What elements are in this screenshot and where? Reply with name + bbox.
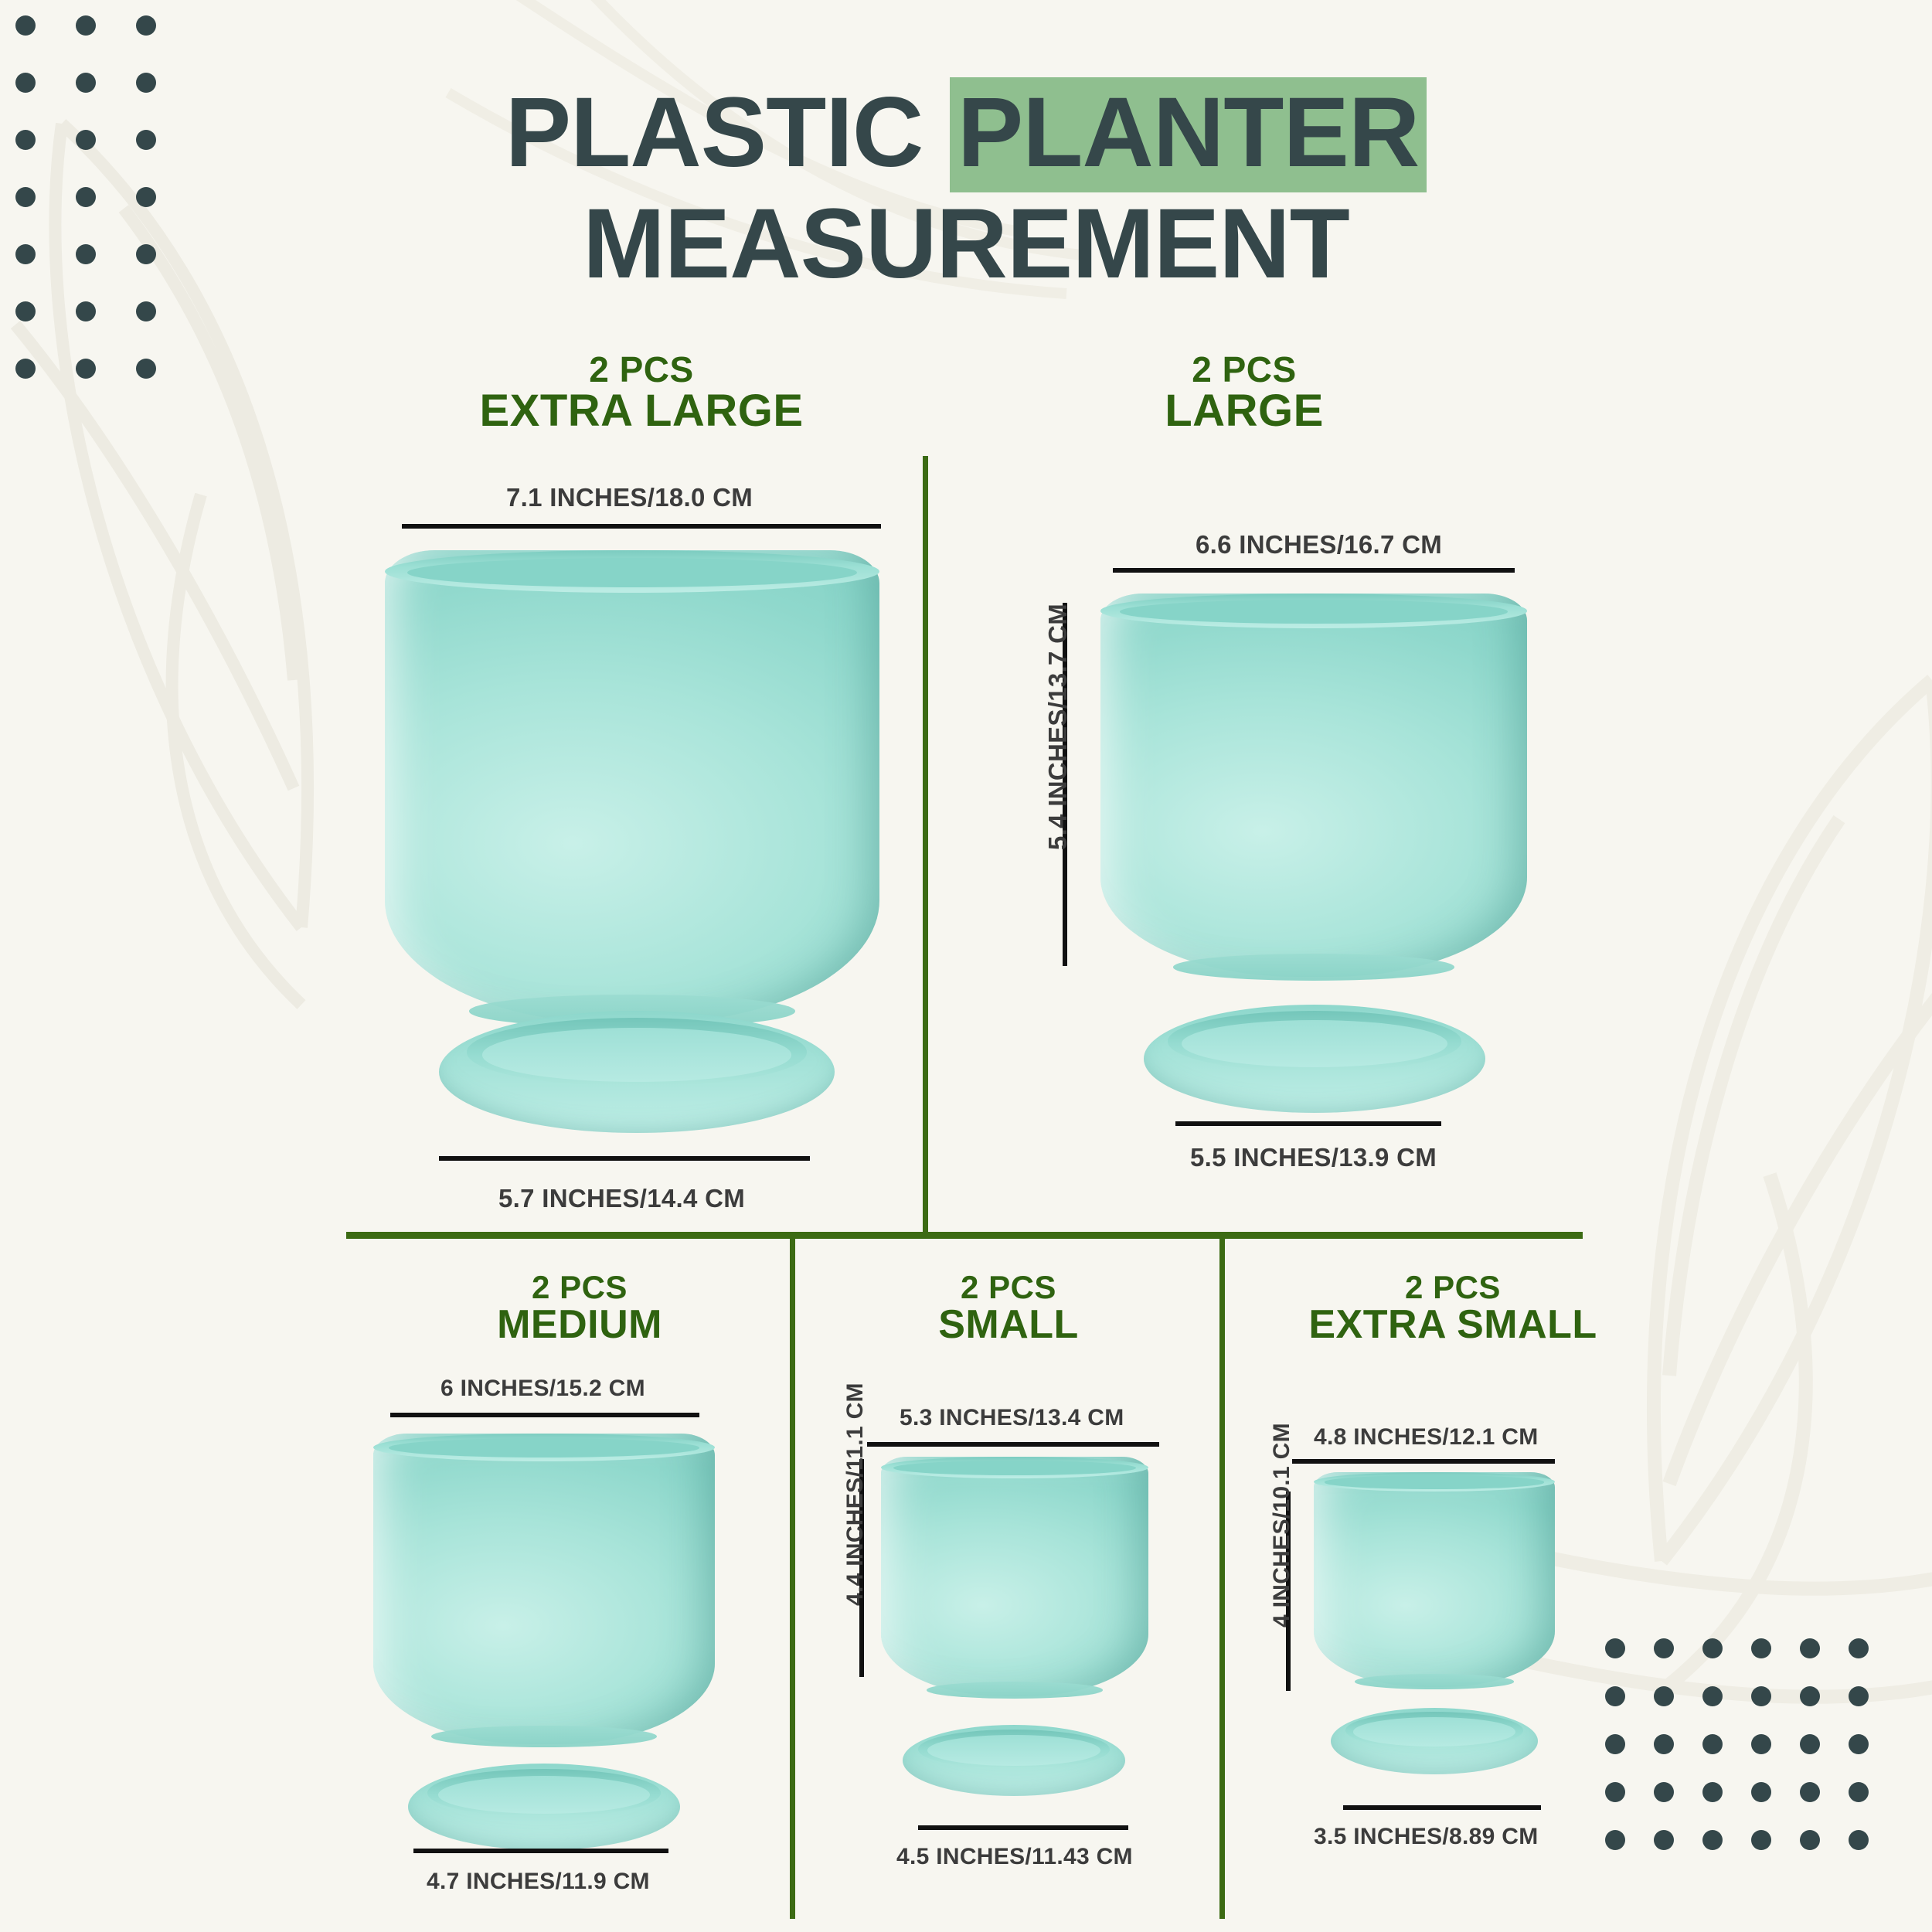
section-pcs-label: 2 PCS <box>1005 352 1484 388</box>
title-plain-text: PLASTIC <box>505 77 950 188</box>
measure-rule-top-extra-large <box>402 524 881 529</box>
dot <box>1605 1686 1625 1706</box>
page-title: PLASTIC PLANTER MEASUREMENT <box>0 83 1932 294</box>
saucer-well-inner <box>482 1028 791 1082</box>
planter-extra-small <box>1314 1472 1555 1687</box>
pot-foot <box>927 1682 1103 1699</box>
dot <box>1605 1830 1625 1850</box>
measure-top-small: 5.3 INCHES/13.4 CM <box>900 1405 1124 1431</box>
measure-side-small: 4.4 INCHES/11.1 CM <box>842 1383 869 1606</box>
measure-rule-bottom-small <box>918 1825 1128 1830</box>
infographic-canvas: PLASTIC PLANTER MEASUREMENT 2 PCS EXTRA … <box>0 0 1932 1932</box>
section-size-label: SMALL <box>808 1304 1209 1345</box>
section-heading-extra-small: 2 PCS EXTRA SMALL <box>1236 1271 1669 1345</box>
dot <box>1605 1734 1625 1754</box>
measure-bottom-small: 4.5 INCHES/11.43 CM <box>896 1844 1133 1870</box>
divider-vertical-bottom-left <box>790 1239 795 1919</box>
section-heading-extra-large: 2 PCS EXTRA LARGE <box>402 352 881 434</box>
saucer-large <box>1144 1005 1485 1113</box>
planter-small <box>881 1457 1148 1696</box>
section-pcs-label: 2 PCS <box>1236 1271 1669 1304</box>
dot <box>136 301 156 321</box>
dot <box>1849 1638 1869 1658</box>
measure-bottom-large: 5.5 INCHES/13.9 CM <box>1190 1143 1437 1172</box>
title-highlight-text: PLANTER <box>950 77 1427 192</box>
pot-foot <box>431 1726 657 1747</box>
measure-rule-bottom-medium <box>413 1849 668 1853</box>
measure-rule-top-small <box>867 1442 1159 1447</box>
pot-rim-inner <box>1325 1475 1544 1488</box>
dot <box>1702 1734 1723 1754</box>
dot <box>15 15 36 36</box>
pot-foot <box>1355 1674 1514 1689</box>
dot <box>76 301 96 321</box>
pot-body <box>1314 1472 1555 1687</box>
dot <box>76 359 96 379</box>
dot <box>1654 1734 1674 1754</box>
section-pcs-label: 2 PCS <box>402 352 881 388</box>
dot <box>1751 1638 1771 1658</box>
dot <box>1751 1782 1771 1802</box>
measure-rule-top-medium <box>390 1413 699 1417</box>
dot <box>1849 1782 1869 1802</box>
measure-bottom-extra-large: 5.7 INCHES/14.4 CM <box>498 1184 745 1213</box>
saucer-well-inner <box>1182 1020 1448 1068</box>
title-line-2: MEASUREMENT <box>0 195 1932 294</box>
measure-rule-top-extra-small <box>1292 1459 1555 1464</box>
dot <box>1849 1686 1869 1706</box>
section-pcs-label: 2 PCS <box>808 1271 1209 1304</box>
dot <box>1849 1830 1869 1850</box>
dot <box>1654 1686 1674 1706</box>
pot-body <box>881 1457 1148 1696</box>
measure-rule-bottom-extra-small <box>1343 1805 1541 1810</box>
dot-grid-bottom-right <box>1605 1638 1897 1878</box>
title-line-1: PLASTIC PLANTER <box>0 83 1932 182</box>
pot-rim-inner <box>1120 600 1508 624</box>
dot <box>76 15 96 36</box>
dot <box>1605 1782 1625 1802</box>
dot <box>1702 1686 1723 1706</box>
dot <box>15 301 36 321</box>
section-pcs-label: 2 PCS <box>379 1271 781 1304</box>
pot-rim-inner <box>893 1461 1137 1475</box>
pot-body <box>385 550 879 1023</box>
saucer-medium <box>408 1764 680 1850</box>
dot <box>1702 1782 1723 1802</box>
dot <box>1800 1830 1820 1850</box>
divider-vertical-top <box>923 456 928 1234</box>
measure-top-medium: 6 INCHES/15.2 CM <box>440 1376 645 1402</box>
dot <box>1605 1638 1625 1658</box>
measure-top-extra-small: 4.8 INCHES/12.1 CM <box>1314 1424 1539 1451</box>
planter-medium <box>373 1434 715 1744</box>
dot <box>1751 1686 1771 1706</box>
section-size-label: EXTRA SMALL <box>1236 1304 1669 1345</box>
dot <box>1702 1638 1723 1658</box>
dot <box>1751 1734 1771 1754</box>
section-heading-large: 2 PCS LARGE <box>1005 352 1484 434</box>
dot <box>1800 1638 1820 1658</box>
dot <box>1654 1830 1674 1850</box>
dot <box>1800 1686 1820 1706</box>
pot-rim-inner <box>407 558 857 587</box>
saucer-extra-small <box>1331 1708 1538 1774</box>
saucer-well-inner <box>438 1776 651 1814</box>
pot-foot <box>1173 954 1454 981</box>
divider-vertical-bottom-right <box>1219 1239 1225 1919</box>
measure-side-large: 5.4 INCHES/13.7 CM <box>1043 604 1073 850</box>
pot-body <box>1100 594 1527 977</box>
saucer-small <box>903 1725 1125 1796</box>
dot <box>1849 1734 1869 1754</box>
planter-extra-large <box>385 550 879 1023</box>
dot <box>136 15 156 36</box>
measure-side-extra-small: 4 INCHES/10.1 CM <box>1269 1423 1295 1628</box>
saucer-well-inner <box>927 1735 1101 1766</box>
measure-rule-top-large <box>1113 568 1515 573</box>
saucer-extra-large <box>439 1011 835 1133</box>
section-heading-small: 2 PCS SMALL <box>808 1271 1209 1345</box>
pot-body <box>373 1434 715 1744</box>
measure-top-large: 6.6 INCHES/16.7 CM <box>1196 530 1442 560</box>
measure-rule-bottom-extra-large <box>439 1156 810 1161</box>
dot <box>1751 1830 1771 1850</box>
divider-horizontal-middle <box>346 1232 1583 1239</box>
planter-large <box>1100 594 1527 977</box>
dot <box>136 359 156 379</box>
measure-bottom-extra-small: 3.5 INCHES/8.89 CM <box>1314 1824 1539 1850</box>
dot <box>1654 1782 1674 1802</box>
saucer-well-inner <box>1353 1717 1515 1747</box>
measure-rule-bottom-large <box>1175 1121 1441 1126</box>
dot <box>1654 1638 1674 1658</box>
section-size-label: EXTRA LARGE <box>402 388 881 434</box>
section-size-label: MEDIUM <box>379 1304 781 1345</box>
measure-top-extra-large: 7.1 INCHES/18.0 CM <box>506 483 753 512</box>
section-heading-medium: 2 PCS MEDIUM <box>379 1271 781 1345</box>
measure-bottom-medium: 4.7 INCHES/11.9 CM <box>427 1869 650 1895</box>
dot <box>1702 1830 1723 1850</box>
dot <box>1800 1782 1820 1802</box>
dot <box>1800 1734 1820 1754</box>
section-size-label: LARGE <box>1005 388 1484 434</box>
dot <box>15 359 36 379</box>
